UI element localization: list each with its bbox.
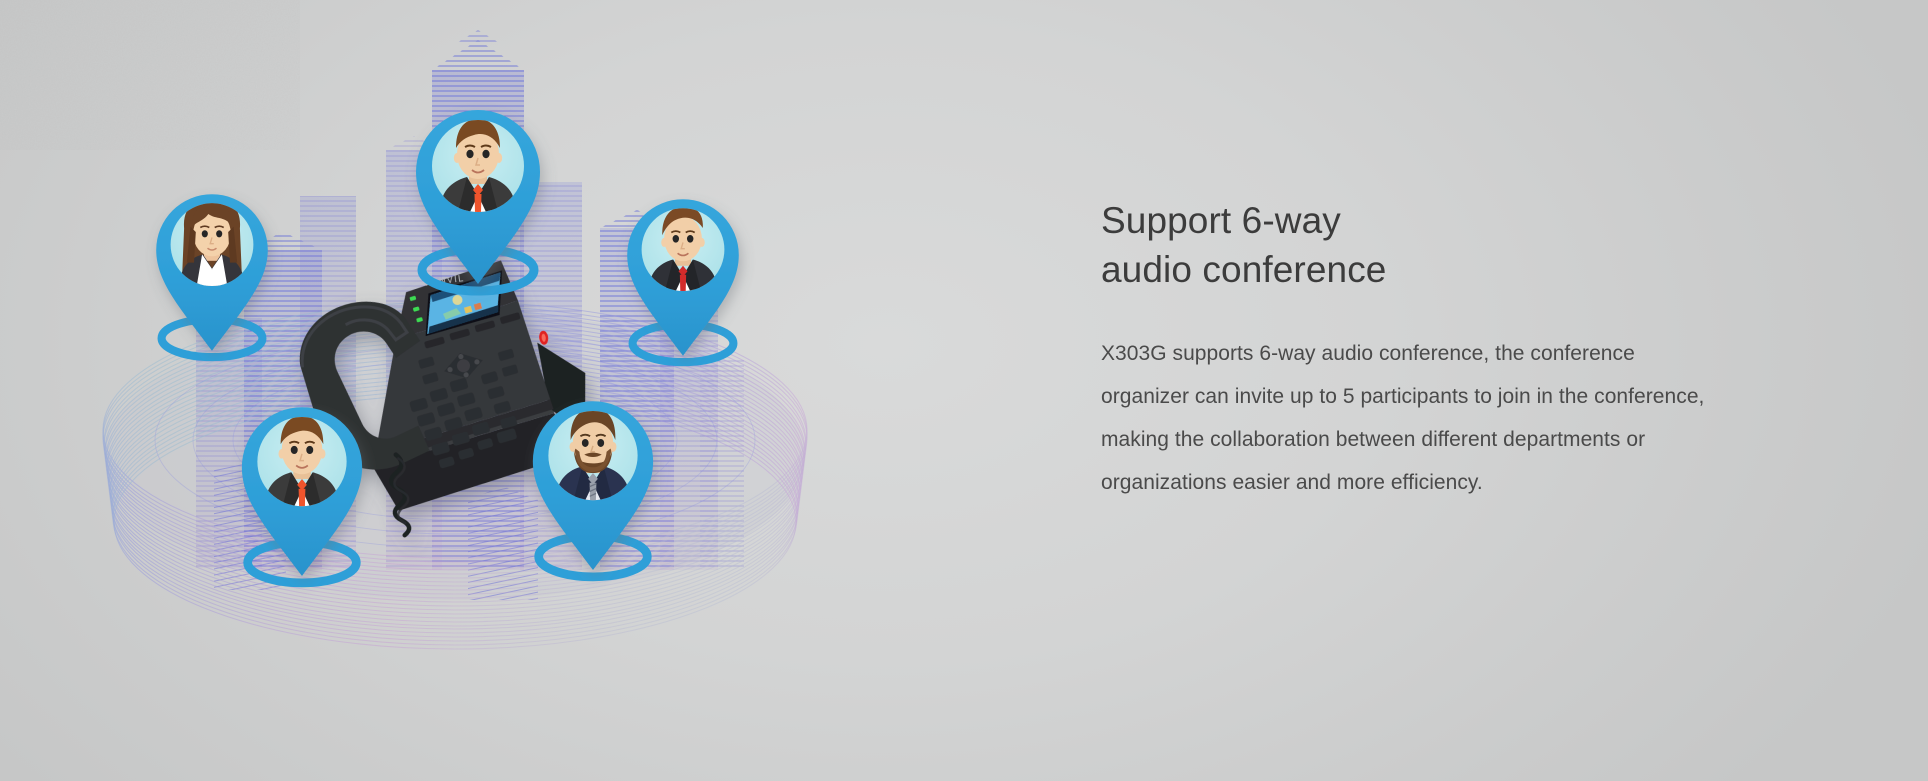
conference-illustration: FANVIL [0,0,1000,781]
page-background: FANVIL [0,0,1928,781]
illustration-canvas: FANVIL [0,0,1000,781]
description-paragraph: X303G supports 6-way audio conference, t… [1101,332,1723,504]
text-column: Support 6-way audio conference X303G sup… [1101,196,1801,504]
avatar-female [180,198,245,286]
page-title: Support 6-way audio conference [1101,196,1801,294]
